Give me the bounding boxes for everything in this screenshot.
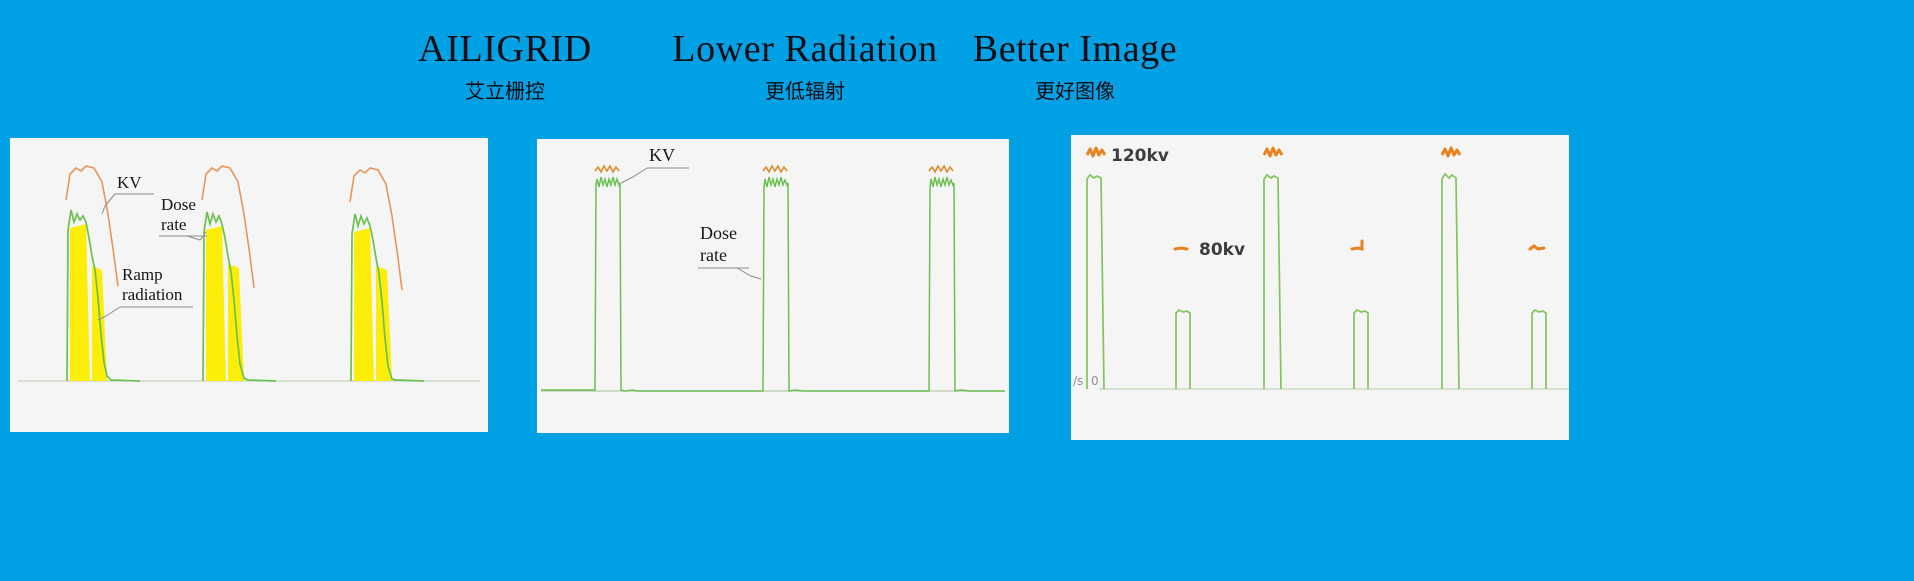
header-title-en-1: AILIGRID: [325, 30, 685, 68]
annotation-ramp-label-line1: Ramp: [122, 265, 163, 284]
annotation-dose-rate: Dose rate: [698, 223, 761, 279]
kv-marker-icon-low-2: [1352, 241, 1362, 249]
header-banner: AILIGRID 艾立栅控 Lower Radiation 更低辐射 Bette…: [0, 0, 1914, 130]
low-energy-pulses: [1176, 310, 1546, 389]
ramp-radiation-fill-1: [70, 224, 90, 381]
chart-interlace-dual-energy: /s 0: [1071, 135, 1569, 401]
kv-trace-1: [595, 166, 619, 172]
annotation-dose-label-line1: Dose: [161, 195, 196, 214]
page-root: AILIGRID 艾立栅控 Lower Radiation 更低辐射 Bette…: [0, 0, 1914, 581]
panel-normal-x-ray-pulse: KV Dose rate Ramp radiation: [10, 138, 488, 432]
chart-ailigrid-x-ray-pulse: KV Dose rate: [537, 139, 1009, 399]
annotation-kv-label: KV: [649, 145, 675, 165]
pulse-group-2: [657, 166, 837, 391]
annotation-dose-label-line1: Dose: [700, 223, 737, 243]
annotation-kv-leader: [621, 168, 647, 183]
header-title-en-3: Better Image: [915, 30, 1235, 68]
pulse-80kv-2: [1354, 310, 1368, 389]
annotation-kv: KV: [102, 173, 154, 214]
kv-marker-icon-2: [1264, 148, 1282, 156]
kv-marker-icon-low-1: [1175, 248, 1187, 249]
kv-trace-2: [763, 166, 787, 172]
annotation-ramp-radiation: Ramp radiation: [98, 265, 193, 320]
pulse-80kv-3: [1532, 310, 1546, 389]
ramp-radiation-fill-2: [206, 226, 226, 381]
header-title-cn-1: 艾立栅控: [325, 81, 685, 101]
pulse-group-3: [837, 166, 1005, 391]
chart-normal-x-ray-pulse: KV Dose rate Ramp radiation: [10, 138, 488, 393]
annotation-dose-leader: [737, 268, 761, 279]
label-80kv: 80kv: [1199, 240, 1245, 260]
annotation-kv-label: KV: [117, 173, 142, 192]
annotation-dose-rate: Dose rate: [159, 195, 207, 240]
header-title-cn-3: 更好图像: [915, 81, 1235, 101]
ramp-radiation-fill-3: [354, 228, 374, 381]
axis-zero-tick: 0: [1091, 374, 1099, 388]
pulse-group-3: [350, 168, 424, 381]
panel-ailigrid-interlace-dual-energy: /s 0: [1071, 135, 1569, 440]
dose-rate-trace-2: [657, 177, 837, 391]
kv-marker-icon-1: [1087, 148, 1105, 156]
kv-marker-icon-low-3: [1530, 246, 1544, 249]
panel-ailigrid-x-ray-pulse: KV Dose rate Ailigrid x ray pulse: [537, 139, 1009, 433]
pulse-80kv-1: [1176, 310, 1190, 389]
annotation-kv-leader: [102, 194, 115, 214]
kv-trace-3: [929, 166, 953, 172]
pulse-group-2: [202, 166, 276, 381]
high-energy-pulses: [1087, 174, 1459, 389]
annotation-dose-label-line2: rate: [700, 245, 727, 265]
pulse-120kv-1: [1087, 175, 1104, 389]
label-120kv: 120kv: [1111, 146, 1169, 166]
pulse-120kv-3: [1442, 174, 1459, 389]
header-group-better-image: Better Image 更好图像: [915, 30, 1235, 101]
axis-unit-label: /s: [1073, 374, 1083, 388]
pulse-120kv-2: [1264, 175, 1281, 389]
annotation-ramp-label-line2: radiation: [122, 285, 183, 304]
dose-rate-trace-1: [541, 177, 657, 391]
annotation-dose-label-line2: rate: [161, 215, 186, 234]
annotation-kv: KV: [621, 145, 689, 183]
pulse-group-1: [541, 166, 657, 391]
kv-marker-icon-3: [1442, 148, 1460, 156]
dose-rate-trace-3: [837, 177, 1005, 391]
header-group-ailigrid: AILIGRID 艾立栅控: [325, 30, 685, 101]
